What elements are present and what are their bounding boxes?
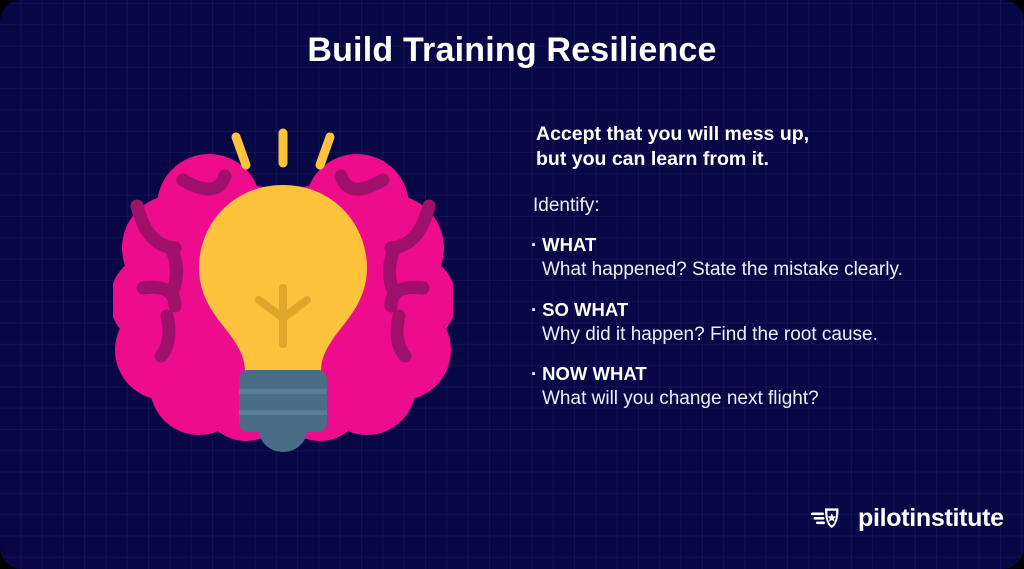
list-item-heading-row: · WHAT (531, 232, 991, 257)
brain-lightbulb-illustration (113, 128, 453, 453)
list-item: · NOW WHAT What will you change next fli… (531, 361, 991, 412)
slide-canvas: Build Training Resilience (0, 0, 1024, 569)
list-item-heading: WHAT (542, 232, 596, 257)
list-item-body: What will you change next flight? (542, 386, 942, 412)
content-column: Accept that you will mess up, but you ca… (531, 122, 991, 426)
list-item-heading-row: · NOW WHAT (531, 361, 991, 386)
list-item: · SO WHAT Why did it happen? Find the ro… (531, 297, 991, 348)
brand-logo: pilotinstitute (811, 503, 1004, 533)
list-item-body: What happened? State the mistake clearly… (542, 257, 942, 283)
bullet-icon: · (531, 361, 537, 386)
page-title: Build Training Resilience (0, 28, 1024, 72)
list-item-body: Why did it happen? Find the root cause. (542, 322, 942, 348)
lead-statement: Accept that you will mess up, but you ca… (536, 122, 991, 172)
list-item-heading: SO WHAT (542, 297, 628, 322)
list-item: · WHAT What happened? State the mistake … (531, 232, 991, 283)
identify-list: · WHAT What happened? State the mistake … (531, 232, 991, 412)
bullet-icon: · (531, 232, 537, 257)
idea-sparks (236, 133, 330, 165)
winged-shield-star-icon (811, 505, 849, 531)
list-item-heading-row: · SO WHAT (531, 297, 991, 322)
list-item-heading: NOW WHAT (542, 361, 646, 386)
logo-wordmark: pilotinstitute (858, 505, 1004, 531)
identify-label: Identify: (533, 194, 991, 218)
bullet-icon: · (531, 297, 537, 322)
